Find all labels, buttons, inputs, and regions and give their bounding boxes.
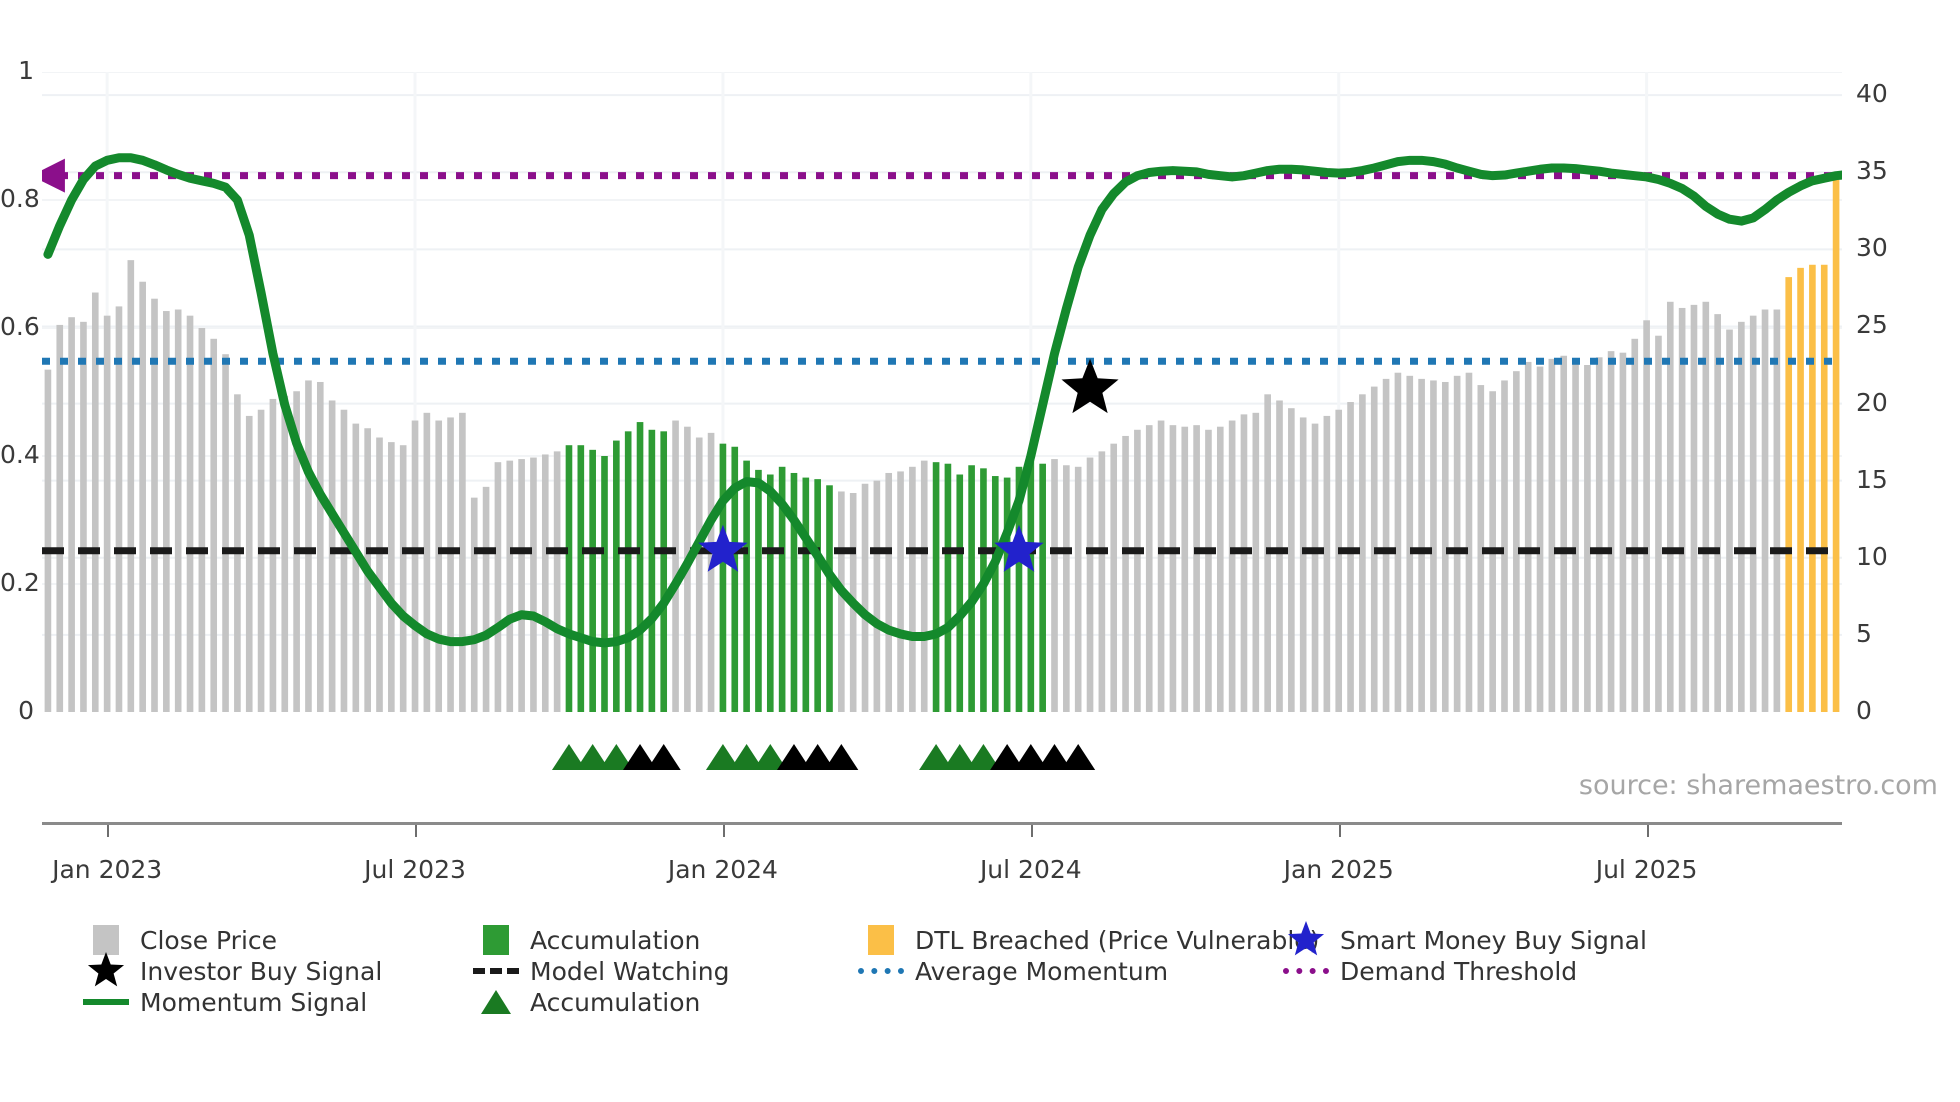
close-price-bar xyxy=(1324,416,1331,712)
close-price-bar xyxy=(1347,402,1354,712)
close-price-bar xyxy=(542,454,549,712)
chart-root: 00.20.40.60.81 0510152025303540 Jan 2023… xyxy=(0,0,1960,1102)
close-price-bar xyxy=(897,471,904,712)
close-price-bar xyxy=(1158,421,1165,712)
accumulation-bar xyxy=(755,470,762,712)
y-right-tick-label: 35 xyxy=(1856,156,1888,185)
legend-item-investor-buy-signal[interactable]: Investor Buy Signal xyxy=(80,956,382,986)
y-right-tick-label: 25 xyxy=(1856,310,1888,339)
chart-canvas xyxy=(42,72,1842,712)
x-axis-tick-label: Jan 2024 xyxy=(613,855,833,884)
close-price-bar xyxy=(696,437,703,712)
close-price-bar xyxy=(1406,376,1413,712)
x-axis-tick-mark xyxy=(1031,825,1033,837)
close-price-bar xyxy=(708,433,715,712)
y-left-tick-label: 0.6 xyxy=(0,312,34,341)
close-price-bar xyxy=(139,282,146,712)
close-price-bar xyxy=(1714,314,1721,712)
legend-key-dtl-breached-icon xyxy=(855,925,907,955)
close-price-bar xyxy=(483,487,490,712)
close-price-bar xyxy=(1051,459,1058,712)
accumulation-bar xyxy=(968,465,975,712)
solid-line-icon xyxy=(83,999,129,1005)
close-price-bar xyxy=(447,417,454,712)
close-price-bar xyxy=(1679,308,1686,712)
legend-item-average-momentum[interactable]: Average Momentum xyxy=(855,956,1168,986)
close-price-bar xyxy=(1442,382,1449,712)
close-price-bar xyxy=(1276,400,1283,712)
triangle-up-icon xyxy=(481,990,511,1014)
close-price-bar xyxy=(388,442,395,712)
close-price-bar xyxy=(104,316,111,712)
investor-buy-signal-marker xyxy=(1061,359,1118,413)
y-left-tick-label: 1 xyxy=(0,56,34,85)
close-price-bar xyxy=(412,421,419,712)
close-price-bar xyxy=(518,459,525,712)
close-price-bar xyxy=(1418,379,1425,712)
close-price-bar xyxy=(1513,371,1520,712)
accumulation-bar xyxy=(637,422,644,712)
accumulation-bar xyxy=(613,441,620,712)
close-price-bar xyxy=(495,462,502,712)
close-price-bar xyxy=(874,481,881,712)
close-price-bar xyxy=(1099,451,1106,712)
legend-label: Model Watching xyxy=(530,957,730,986)
legend-item-smart-money-buy-signal[interactable]: Smart Money Buy Signal xyxy=(1280,925,1647,955)
x-axis-spine xyxy=(42,822,1842,825)
close-price-bar xyxy=(281,396,288,712)
close-price-bar xyxy=(199,328,206,712)
source-attribution: source: sharemaestro.com xyxy=(1579,770,1938,801)
legend-label: Smart Money Buy Signal xyxy=(1340,926,1647,955)
y-left-tick-label: 0 xyxy=(0,696,34,725)
square-swatch-icon xyxy=(483,925,509,955)
close-price-bar xyxy=(1537,367,1544,712)
demand-threshold-start-marker xyxy=(42,159,65,193)
legend-item-momentum-signal[interactable]: Momentum Signal xyxy=(80,987,367,1017)
dashed-line-icon xyxy=(473,968,519,974)
accumulation-bar xyxy=(933,462,940,712)
close-price-bar xyxy=(1596,357,1603,712)
accumulation-bar xyxy=(791,473,798,712)
close-price-bar xyxy=(424,413,431,712)
legend-key-smart-money-buy-signal-icon xyxy=(1280,925,1332,955)
accumulation-bar xyxy=(826,485,833,712)
accumulation-bar xyxy=(589,450,596,712)
y-right-tick-label: 0 xyxy=(1856,696,1872,725)
accumulation-triangle-black xyxy=(1061,744,1095,770)
dtl-breached-bar xyxy=(1833,180,1840,712)
close-price-bar xyxy=(838,491,845,712)
close-price-bar xyxy=(1288,408,1295,712)
legend-key-investor-buy-signal-icon xyxy=(80,956,132,986)
legend-label: Close Price xyxy=(140,926,277,955)
close-price-bar xyxy=(1525,362,1532,712)
close-price-bar xyxy=(1584,365,1591,712)
legend-item-accumulation-bar[interactable]: Accumulation xyxy=(470,925,700,955)
close-price-bar xyxy=(116,306,123,712)
legend-key-model-watching-icon xyxy=(470,956,522,986)
accumulation-bar xyxy=(814,479,821,712)
close-price-bar xyxy=(506,461,513,712)
legend-label: Average Momentum xyxy=(915,957,1168,986)
close-price-bar xyxy=(56,325,63,712)
close-price-bar xyxy=(554,451,561,712)
close-price-bar xyxy=(1726,330,1733,712)
close-price-bar xyxy=(400,445,407,712)
y-left-tick-label: 0.8 xyxy=(0,184,34,213)
accumulation-bar xyxy=(625,431,632,712)
close-price-bar xyxy=(1549,359,1556,712)
close-price-bar xyxy=(1335,410,1342,712)
close-price-bar xyxy=(1750,316,1757,712)
close-price-bar xyxy=(128,260,135,712)
legend-item-dtl-breached[interactable]: DTL Breached (Price Vulnerable) xyxy=(855,925,1319,955)
close-price-bar xyxy=(1631,339,1638,712)
x-axis-tick-label: Jan 2023 xyxy=(0,855,217,884)
legend-key-accumulation-bar-icon xyxy=(470,925,522,955)
close-price-bar xyxy=(1110,444,1117,712)
close-price-bar xyxy=(435,421,442,712)
close-price-bar xyxy=(1430,380,1437,712)
close-price-bar xyxy=(353,424,360,712)
close-price-bar xyxy=(270,399,277,712)
close-price-bar xyxy=(222,354,229,712)
dtl-breached-bar xyxy=(1809,265,1816,712)
close-price-bar xyxy=(885,473,892,712)
close-price-bar xyxy=(1466,373,1473,712)
legend-key-accumulation-marker-icon xyxy=(470,987,522,1017)
close-price-bar xyxy=(175,309,182,712)
accumulation-bar xyxy=(1004,478,1011,712)
close-price-bar xyxy=(921,461,928,712)
close-price-bar xyxy=(210,339,217,712)
star-icon xyxy=(85,951,127,991)
close-price-bar xyxy=(1774,309,1781,712)
legend-label: Demand Threshold xyxy=(1340,957,1577,986)
accumulation-triangle-black xyxy=(824,744,858,770)
x-axis-tick-label: Jan 2025 xyxy=(1229,855,1449,884)
accumulation-bar xyxy=(578,445,585,712)
close-price-bar xyxy=(1643,320,1650,712)
accumulation-bar xyxy=(660,431,667,712)
y-right-tick-label: 15 xyxy=(1856,465,1888,494)
close-price-bar xyxy=(376,437,383,712)
star-shape xyxy=(88,952,124,986)
accumulation-bar xyxy=(767,475,774,712)
close-price-bar xyxy=(1122,436,1129,712)
star-shape xyxy=(1288,921,1324,955)
close-price-bar xyxy=(1170,425,1177,712)
y-left-tick-label: 0.4 xyxy=(0,440,34,469)
close-price-bar xyxy=(1229,421,1236,712)
accumulation-bar xyxy=(945,464,952,712)
x-axis-tick-mark xyxy=(723,825,725,837)
legend-label: Momentum Signal xyxy=(140,988,367,1017)
dtl-breached-bar xyxy=(1785,277,1792,712)
close-price-bar xyxy=(1134,430,1141,712)
chart-legend: Close PriceAccumulationDTL Breached (Pri… xyxy=(80,925,1940,1075)
legend-label: DTL Breached (Price Vulnerable) xyxy=(915,926,1319,955)
x-axis-tick-mark xyxy=(107,825,109,837)
accumulation-bar xyxy=(720,444,727,712)
close-price-bar xyxy=(187,316,194,712)
legend-label: Accumulation xyxy=(530,926,700,955)
close-price-bar xyxy=(1205,430,1212,712)
close-price-bar xyxy=(80,322,87,712)
close-price-bar xyxy=(1691,305,1698,712)
legend-label: Accumulation xyxy=(530,988,700,1017)
legend-item-demand-threshold[interactable]: Demand Threshold xyxy=(1280,956,1577,986)
square-swatch-icon xyxy=(868,925,894,955)
close-price-bar xyxy=(258,410,265,712)
accumulation-bar xyxy=(1039,464,1046,712)
dotted-line-icon xyxy=(1283,968,1329,974)
close-price-bar xyxy=(92,293,99,712)
x-axis-tick-mark xyxy=(1647,825,1649,837)
close-price-bar xyxy=(1620,353,1627,712)
close-price-bar xyxy=(246,416,253,712)
close-price-bar xyxy=(909,467,916,712)
accumulation-bar xyxy=(956,475,963,712)
x-axis-tick-label: Jul 2025 xyxy=(1537,855,1757,884)
y-right-tick-label: 5 xyxy=(1856,619,1872,648)
close-price-bar xyxy=(1383,379,1390,712)
close-price-bar xyxy=(1312,424,1319,712)
y-right-tick-label: 10 xyxy=(1856,542,1888,571)
accumulation-bar xyxy=(803,478,810,712)
close-price-bar xyxy=(1501,380,1508,712)
x-axis-tick-label: Jul 2024 xyxy=(921,855,1141,884)
close-price-bar xyxy=(45,370,52,712)
close-price-bar xyxy=(1762,309,1769,712)
close-price-bar xyxy=(1359,394,1366,712)
close-price-bar xyxy=(1241,414,1248,712)
accumulation-bar xyxy=(1028,459,1035,712)
close-price-bar xyxy=(1454,376,1461,712)
close-price-bar xyxy=(471,498,478,712)
accumulation-bar xyxy=(566,445,573,712)
legend-key-momentum-signal-icon xyxy=(80,987,132,1017)
y-left-tick-label: 0.2 xyxy=(0,568,34,597)
close-price-bar xyxy=(1572,362,1579,712)
dtl-breached-bar xyxy=(1797,268,1804,712)
x-axis-tick-mark xyxy=(1339,825,1341,837)
close-price-bar xyxy=(1087,458,1094,712)
accumulation-bar xyxy=(601,456,608,712)
close-price-bar xyxy=(317,382,324,712)
y-right-tick-label: 40 xyxy=(1856,79,1888,108)
close-price-bar xyxy=(1181,427,1188,712)
accumulation-marker-canvas xyxy=(42,712,1842,822)
close-price-bar xyxy=(305,380,312,712)
legend-item-model-watching[interactable]: Model Watching xyxy=(470,956,730,986)
close-price-bar xyxy=(459,413,466,712)
dotted-line-icon xyxy=(858,968,904,974)
x-axis-tick-label: Jul 2023 xyxy=(305,855,525,884)
y-right-tick-label: 20 xyxy=(1856,388,1888,417)
accumulation-bar xyxy=(649,430,656,712)
close-price-bar xyxy=(530,458,537,712)
close-price-bar xyxy=(672,421,679,712)
close-price-bar xyxy=(68,317,75,712)
close-price-bar xyxy=(329,400,336,712)
legend-item-accumulation-marker[interactable]: Accumulation xyxy=(470,987,700,1017)
close-price-bar xyxy=(1063,465,1070,712)
legend-label: Investor Buy Signal xyxy=(140,957,382,986)
close-price-bar xyxy=(1655,336,1662,712)
close-price-bar xyxy=(1560,356,1567,712)
plot-area xyxy=(42,72,1842,712)
close-price-bar xyxy=(163,311,170,712)
legend-key-demand-threshold-icon xyxy=(1280,956,1332,986)
close-price-bar xyxy=(1075,467,1082,712)
x-axis-tick-mark xyxy=(415,825,417,837)
close-price-bar xyxy=(1395,373,1402,712)
close-price-bar xyxy=(1253,413,1260,712)
close-price-bar xyxy=(1217,427,1224,712)
close-price-bar xyxy=(1738,322,1745,712)
star-icon xyxy=(1285,920,1327,960)
close-price-bar xyxy=(1608,351,1615,712)
y-right-tick-label: 30 xyxy=(1856,233,1888,262)
close-price-bar xyxy=(1300,417,1307,712)
dtl-breached-bar xyxy=(1821,265,1828,712)
close-price-bar xyxy=(862,484,869,712)
accumulation-marker-row xyxy=(42,712,1842,822)
close-price-bar xyxy=(341,410,348,712)
accumulation-bar xyxy=(992,476,999,712)
close-price-bar xyxy=(1146,425,1153,712)
legend-key-average-momentum-icon xyxy=(855,956,907,986)
accumulation-triangle-black xyxy=(647,744,681,770)
accumulation-bar xyxy=(743,461,750,712)
close-price-bar xyxy=(1193,425,1200,712)
